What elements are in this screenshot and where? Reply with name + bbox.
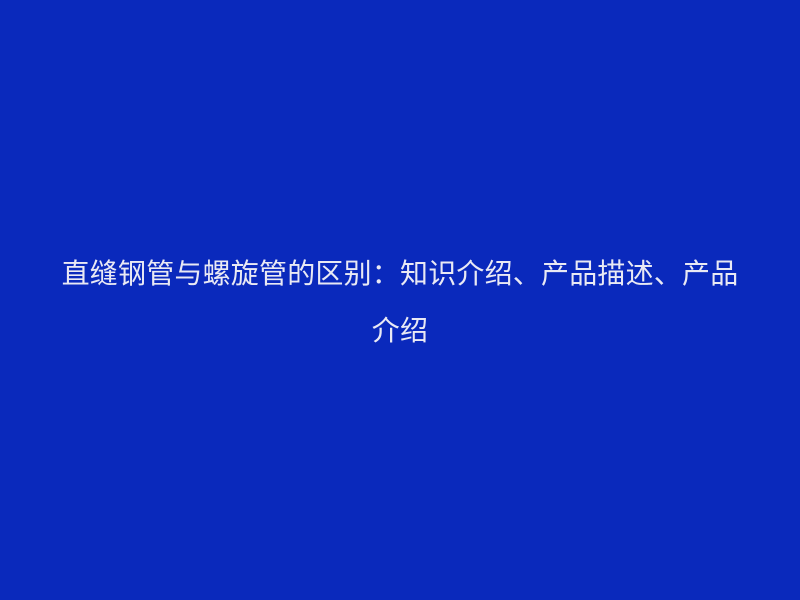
page-title: 直缝钢管与螺旋管的区别：知识介绍、产品描述、产品介绍 (50, 245, 750, 359)
slide-canvas: 直缝钢管与螺旋管的区别：知识介绍、产品描述、产品介绍 (0, 0, 800, 600)
title-block: 直缝钢管与螺旋管的区别：知识介绍、产品描述、产品介绍 (50, 245, 750, 359)
